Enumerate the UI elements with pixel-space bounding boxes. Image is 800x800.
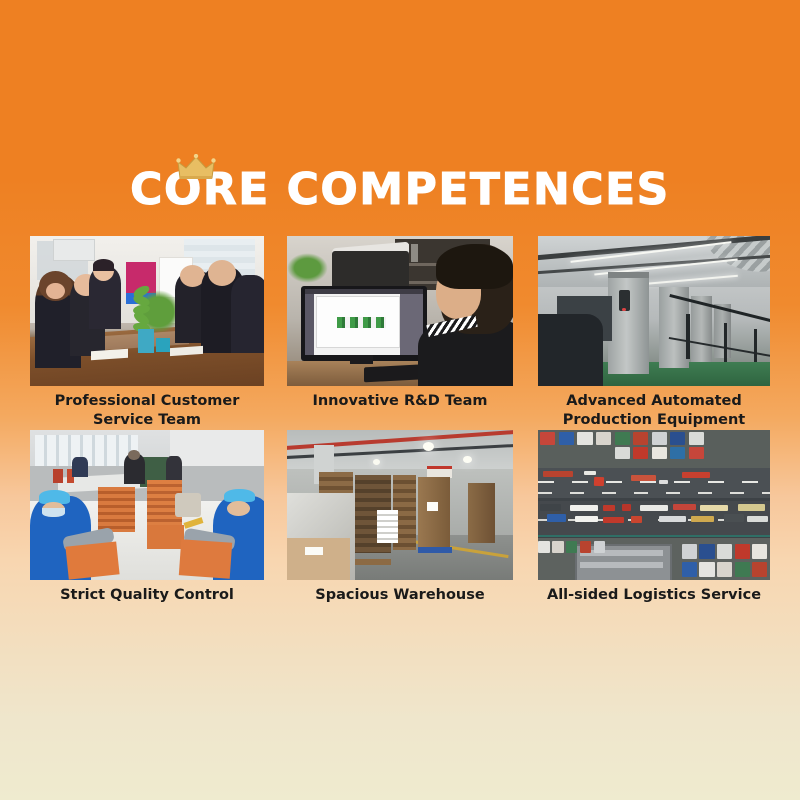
card-all-sided-logistics-service[interactable]: All-sided Logistics Service [538,430,770,580]
container-block [538,541,550,553]
photo-customer-service-meeting [30,236,264,386]
core-competences-banner: CORE COMPETENCES Professio [0,0,800,800]
caption-line-1: Strict Quality Control [16,586,278,605]
container-block [594,476,605,485]
container-block [670,447,685,459]
container-block [682,562,697,577]
caption-line-2: Production Equipment [524,411,784,430]
caption-line-1: Innovative R&D Team [273,392,527,411]
card-caption: Professional Customer Service Team [16,392,278,429]
container-block [724,514,745,522]
container-block [717,544,732,559]
container-block [580,541,592,553]
caption-line-1: Professional Customer [16,392,278,411]
container-block [689,432,704,446]
caption-line-2: Service Team [16,411,278,430]
container-block [752,562,767,577]
container-block [570,505,598,511]
container-block [700,505,728,511]
container-block [717,562,732,577]
card-caption: Strict Quality Control [16,586,278,605]
container-block [543,471,573,477]
container-block [615,432,630,446]
card-caption: All-sided Logistics Service [524,586,784,605]
page-title: CORE COMPETENCES [0,150,800,216]
photo-container-yard-aerial [538,430,770,580]
container-block [640,505,668,511]
container-block [689,447,704,459]
container-block [615,447,630,459]
photo-warehouse-pallets [287,430,513,580]
container-block [547,514,566,522]
photo-printing-press-line [538,236,770,386]
card-advanced-automated-production-equipment[interactable]: Advanced Automated Production Equipment [538,236,770,386]
container-block [633,447,648,459]
container-block [594,541,606,553]
container-block [540,432,555,446]
card-professional-customer-service-team[interactable]: Professional Customer Service Team [30,236,264,386]
caption-line-1: Advanced Automated [524,392,784,411]
container-block [691,516,714,522]
container-block [631,516,643,524]
container-block [699,544,714,559]
container-block [559,432,574,446]
container-block [596,432,611,446]
container-block [735,544,750,559]
container-block [603,505,615,511]
container-block [747,516,768,522]
container-block [622,504,631,512]
container-block [699,562,714,577]
container-block [738,504,766,512]
crown-icon [176,154,216,182]
container-block [566,541,578,553]
container-block [584,471,596,476]
container-block [633,432,648,446]
container-block [577,432,592,446]
caption-line-1: All-sided Logistics Service [524,586,784,605]
container-block [652,432,667,446]
container-block [673,504,696,510]
card-spacious-warehouse[interactable]: Spacious Warehouse [287,430,513,580]
card-caption: Spacious Warehouse [273,586,527,605]
card-strict-quality-control[interactable]: Strict Quality Control [30,430,264,580]
photo-quality-inspection [30,430,264,580]
container-block [575,516,598,522]
container-block [735,562,750,577]
container-block [670,432,685,446]
card-caption: Advanced Automated Production Equipment [524,392,784,429]
container-block [652,447,667,459]
container-block [752,544,767,559]
card-caption: Innovative R&D Team [273,392,527,411]
container-block [682,472,710,478]
container-block [659,516,687,522]
container-block [682,544,697,559]
caption-line-1: Spacious Warehouse [273,586,527,605]
card-innovative-rd-team[interactable]: Innovative R&D Team [287,236,513,386]
container-block [603,517,624,523]
photo-designer-at-computer [287,236,513,386]
container-block [552,541,564,553]
container-block [631,475,657,481]
container-block [659,480,668,485]
container-block [540,504,561,512]
title-block: CORE COMPETENCES [0,150,800,216]
